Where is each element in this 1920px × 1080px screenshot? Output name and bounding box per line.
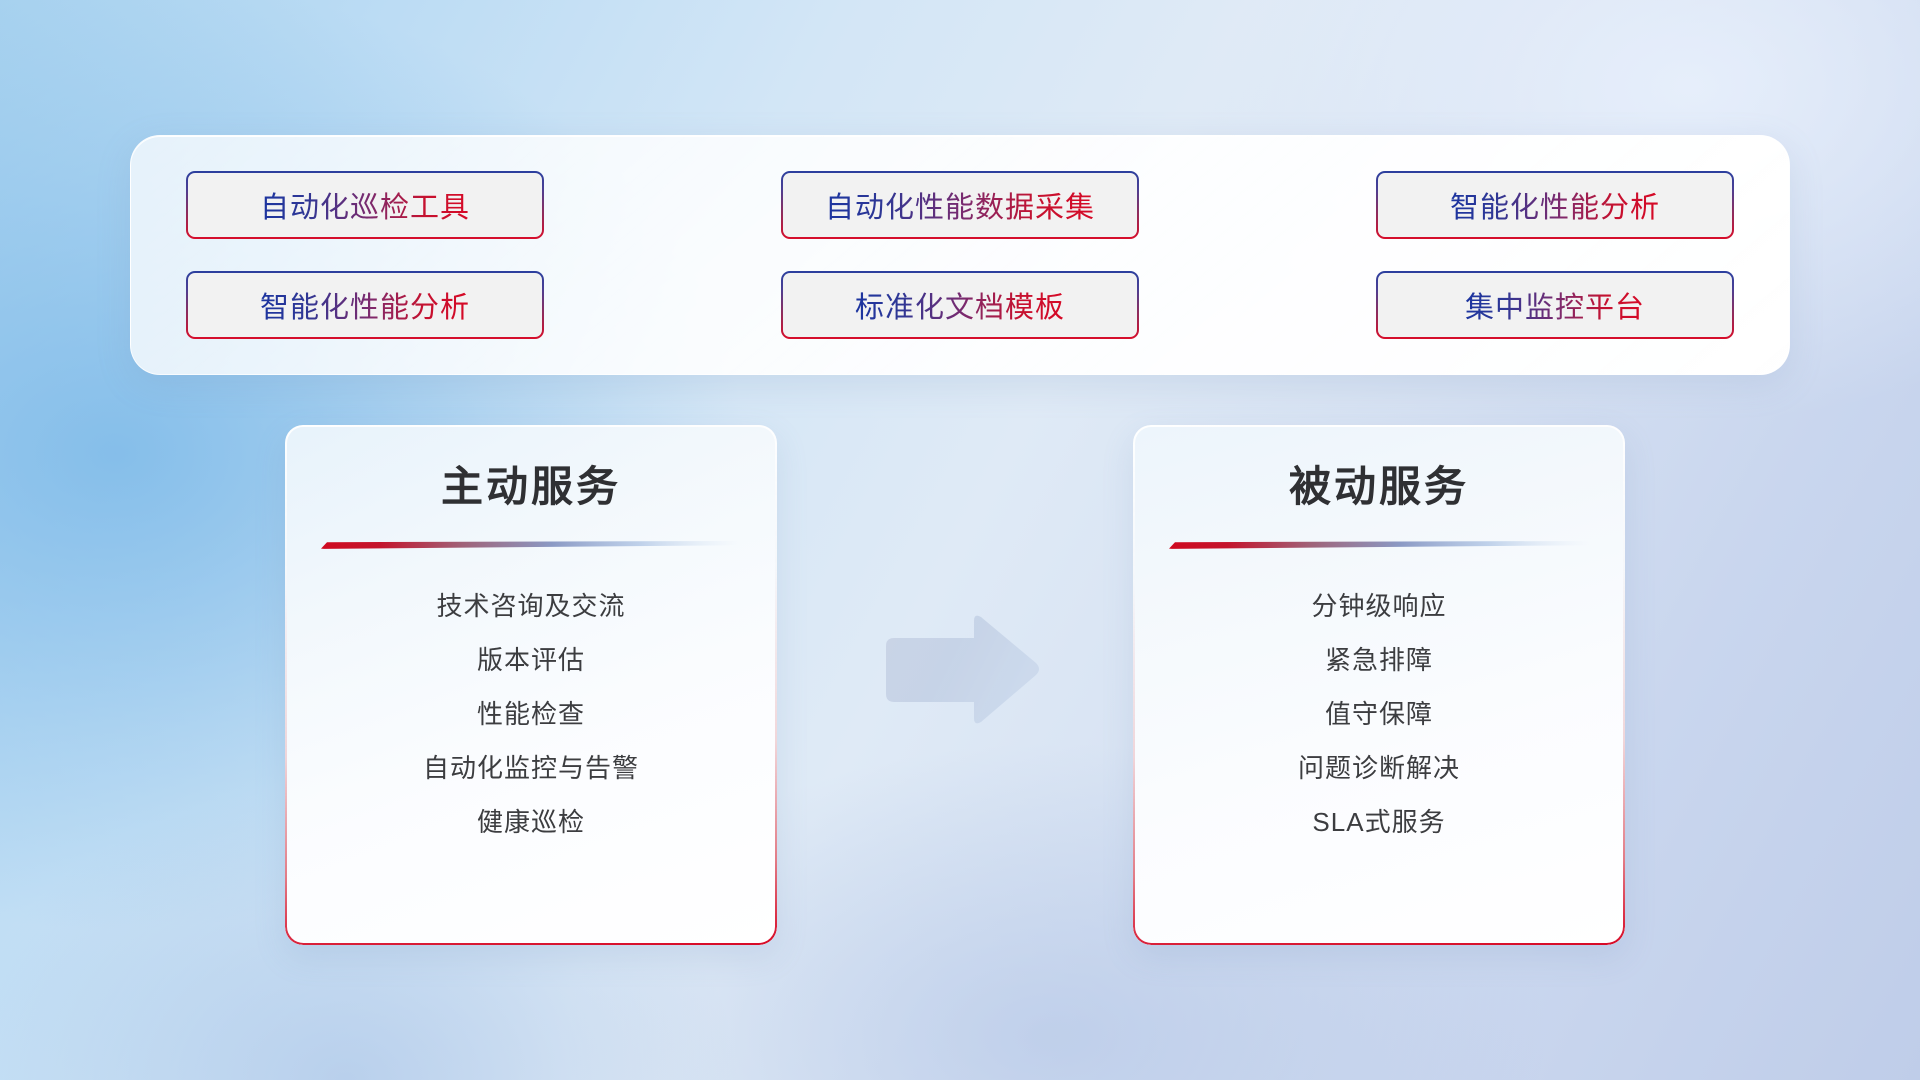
capability-button-central-monitor-platform[interactable]: 集中监控平台 — [1376, 271, 1734, 339]
service-list-item[interactable]: 技术咨询及交流 — [285, 579, 777, 633]
capability-button-surface: 智能化性能分析 — [188, 273, 542, 337]
service-list-item[interactable]: 自动化监控与告警 — [285, 741, 777, 795]
capability-button-auto-inspection-tool[interactable]: 自动化巡检工具 — [186, 171, 544, 239]
service-list-item[interactable]: 值守保障 — [1133, 687, 1625, 741]
arrow-right-icon — [878, 612, 1042, 728]
capability-button-label: 标准化文档模板 — [855, 284, 1065, 326]
capability-button-label: 智能化性能分析 — [1450, 184, 1660, 226]
capability-button-auto-perf-data-collection[interactable]: 自动化性能数据采集 — [781, 171, 1139, 239]
service-list-item[interactable]: 分钟级响应 — [1133, 579, 1625, 633]
capability-button-standard-doc-template[interactable]: 标准化文档模板 — [781, 271, 1139, 339]
capability-panel: 自动化巡检工具 自动化性能数据采集 智能化性能分析 智能化性能分析 标准化文档模… — [130, 135, 1790, 375]
capability-button-smart-perf-analysis-top[interactable]: 智能化性能分析 — [1376, 171, 1734, 239]
service-list-item[interactable]: 问题诊断解决 — [1133, 741, 1625, 795]
capability-button-surface: 自动化性能数据采集 — [783, 173, 1137, 237]
capability-row-1: 自动化巡检工具 自动化性能数据采集 智能化性能分析 — [186, 171, 1734, 239]
capability-button-label: 集中监控平台 — [1465, 284, 1645, 326]
service-card-passive-service[interactable]: 被动服务 分钟级响应 紧急排障 值守保障 问题诊断解决 SLA式服务 — [1133, 425, 1625, 945]
capability-row-2: 智能化性能分析 标准化文档模板 集中监控平台 — [186, 271, 1734, 339]
service-card-title: 主动服务 — [285, 453, 777, 514]
capability-button-label: 自动化性能数据采集 — [825, 184, 1095, 226]
capability-button-label: 自动化巡检工具 — [260, 184, 470, 226]
capability-button-surface: 智能化性能分析 — [1378, 173, 1732, 237]
service-list-item[interactable]: 健康巡检 — [285, 795, 777, 849]
title-divider — [321, 540, 741, 549]
service-list-item[interactable]: 紧急排障 — [1133, 633, 1625, 687]
capability-button-surface: 自动化巡检工具 — [188, 173, 542, 237]
service-item-list: 分钟级响应 紧急排障 值守保障 问题诊断解决 SLA式服务 — [1133, 579, 1625, 849]
service-list-item[interactable]: 版本评估 — [285, 633, 777, 687]
service-list-item[interactable]: SLA式服务 — [1133, 795, 1625, 849]
capability-button-label: 智能化性能分析 — [260, 284, 470, 326]
service-card-active-service[interactable]: 主动服务 技术咨询及交流 版本评估 性能检查 自动化监控与告警 健康巡检 — [285, 425, 777, 945]
service-list-item[interactable]: 性能检查 — [285, 687, 777, 741]
service-card-title: 被动服务 — [1133, 453, 1625, 514]
capability-button-surface: 集中监控平台 — [1378, 273, 1732, 337]
title-divider — [1169, 540, 1589, 549]
service-item-list: 技术咨询及交流 版本评估 性能检查 自动化监控与告警 健康巡检 — [285, 579, 777, 849]
capability-button-smart-perf-analysis-bottom[interactable]: 智能化性能分析 — [186, 271, 544, 339]
capability-button-surface: 标准化文档模板 — [783, 273, 1137, 337]
